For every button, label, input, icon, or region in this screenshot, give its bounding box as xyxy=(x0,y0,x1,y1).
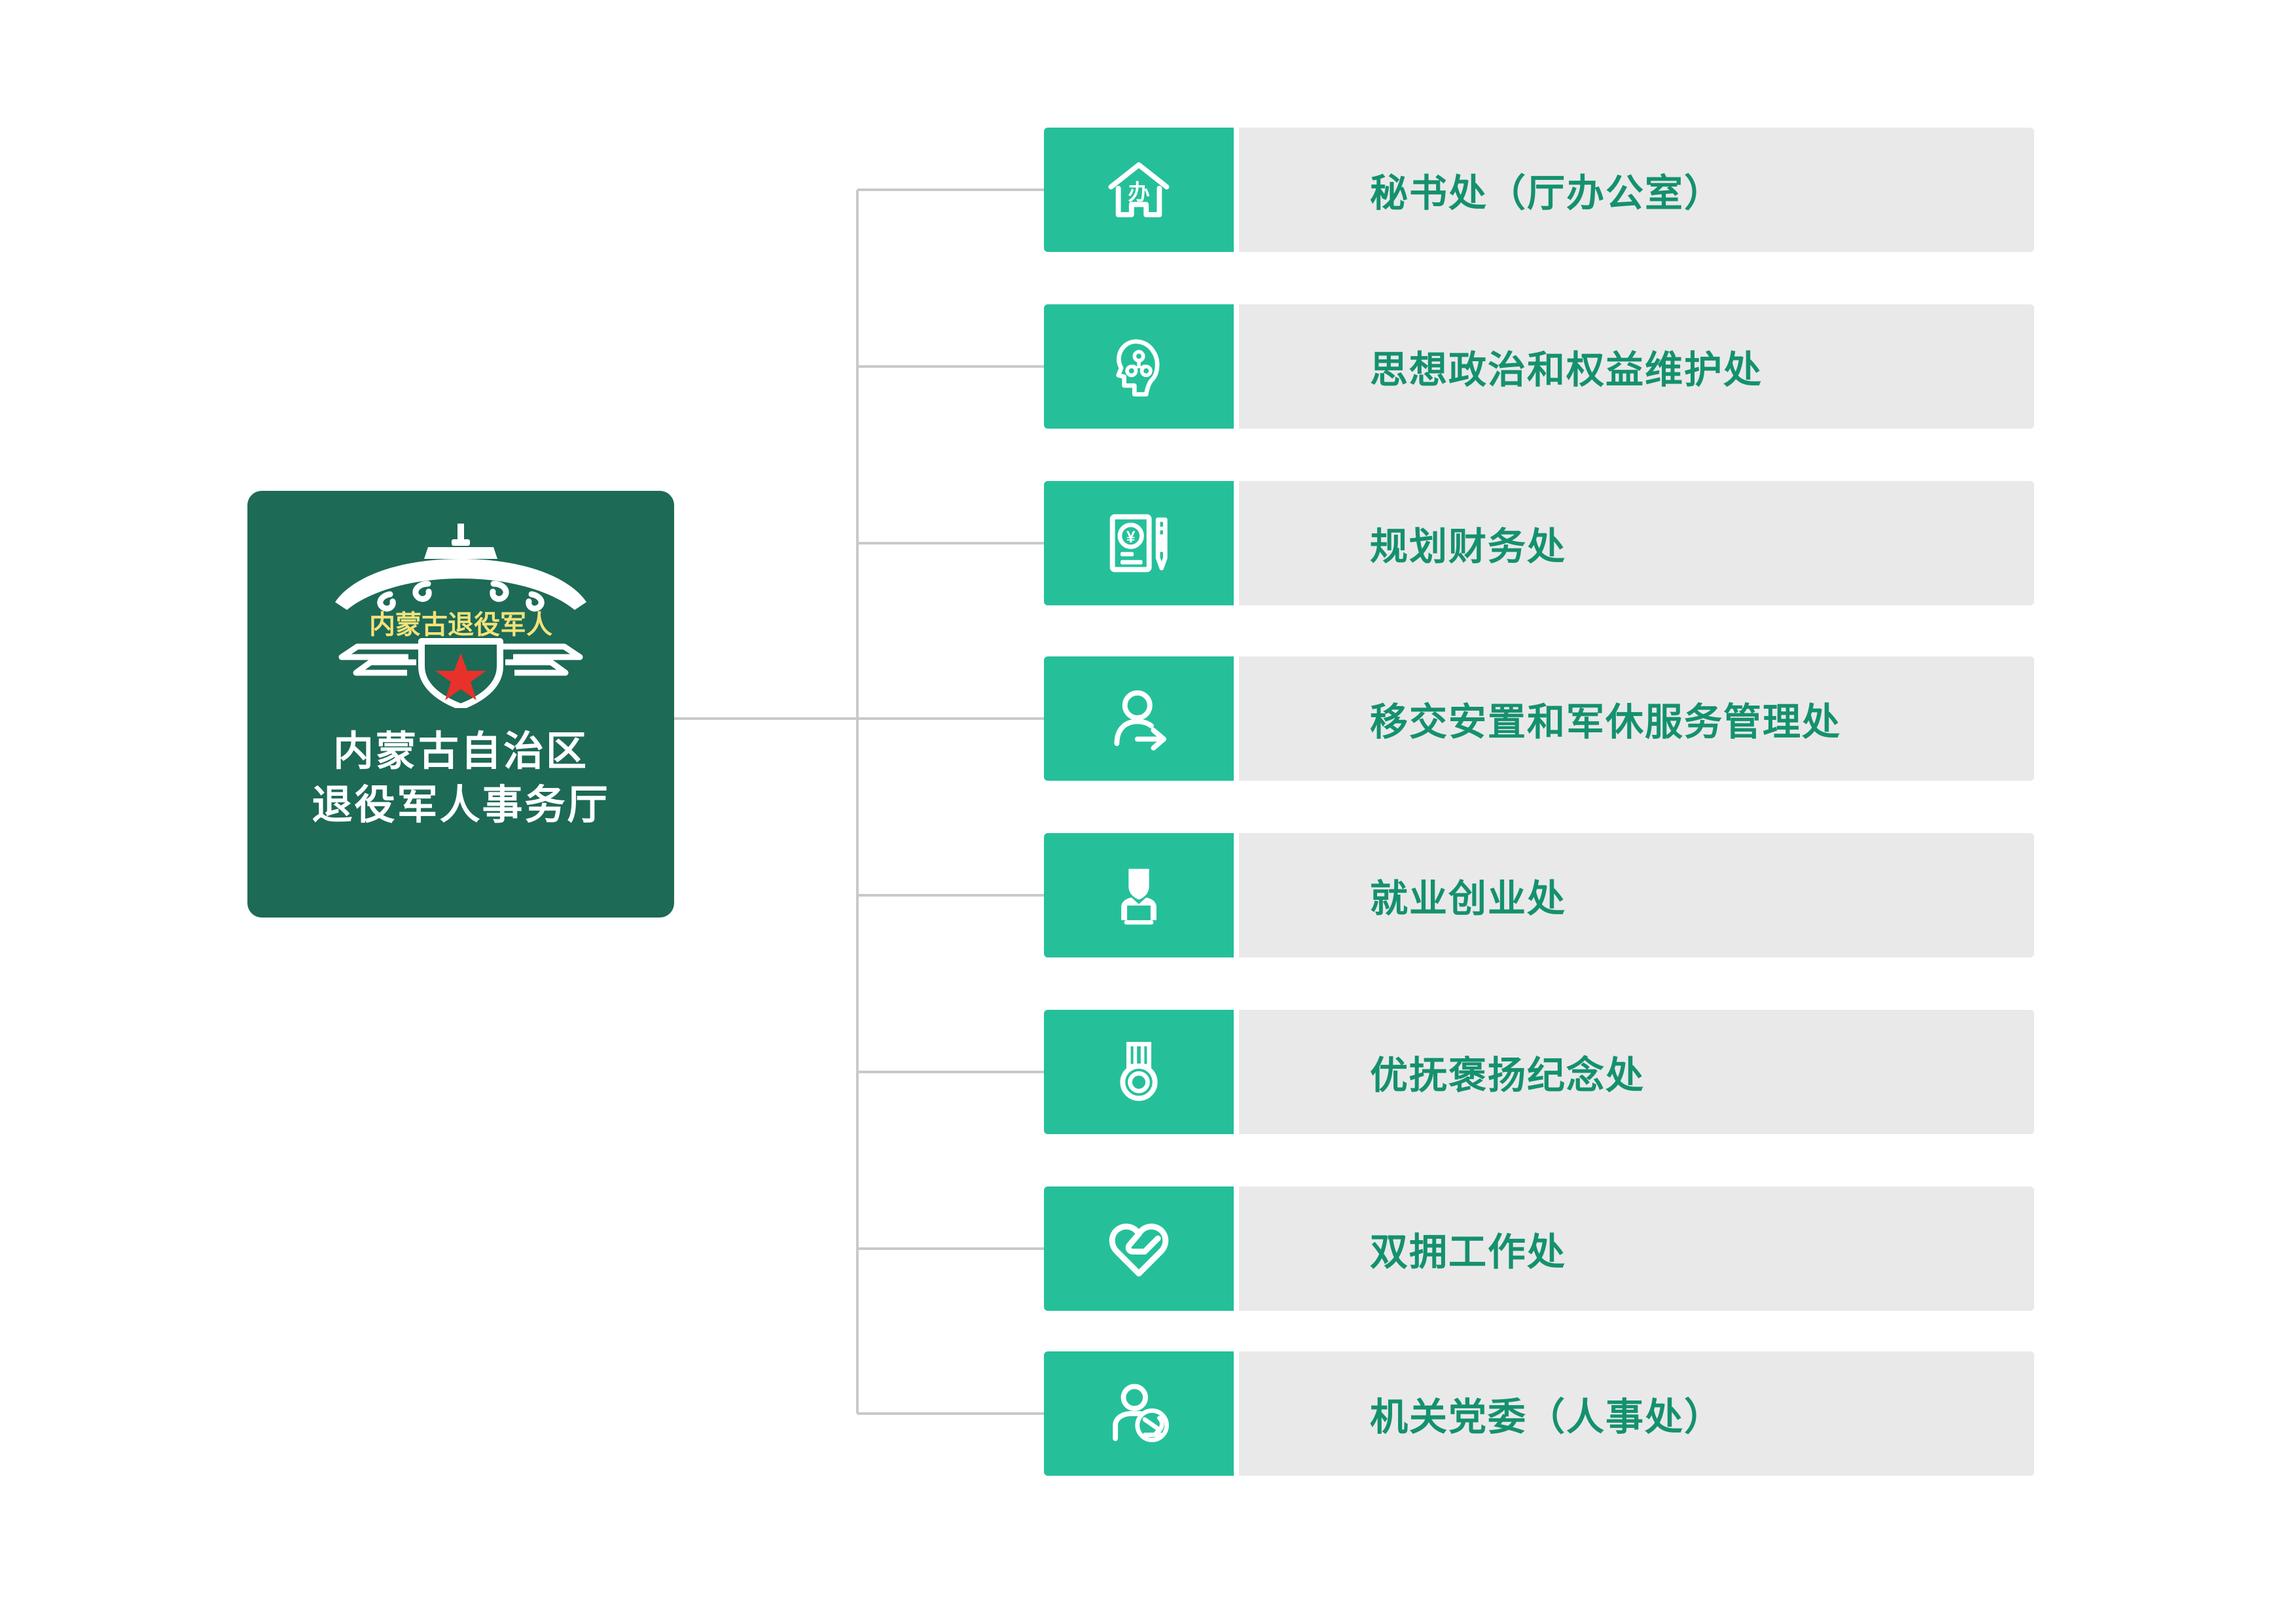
dept-label-text: 就业创业处 xyxy=(1370,868,1566,923)
person-party-emblem-icon xyxy=(1044,1351,1234,1476)
dept-row-employment-entrepreneurship[interactable]: 就业创业处 xyxy=(1044,833,2034,957)
dept-label-text: 双拥工作处 xyxy=(1370,1221,1566,1276)
dept-row-preferential-commendation[interactable]: 优抚褒扬纪念处 xyxy=(1044,1010,2034,1134)
dept-label-bar: 双拥工作处 xyxy=(1239,1186,2034,1311)
person-laptop-icon xyxy=(1044,833,1234,957)
dept-label-bar: 优抚褒扬纪念处 xyxy=(1239,1010,2034,1134)
dept-label-bar: 规划财务处 xyxy=(1239,481,2034,605)
interlocking-hearts-icon xyxy=(1044,1186,1234,1311)
dept-row-ideological-political-rights[interactable]: 思想政治和权益维护处 xyxy=(1044,304,2034,429)
svg-text:办: 办 xyxy=(1128,181,1150,205)
emblem-red-star xyxy=(435,653,486,700)
root-node-title: 内蒙古自治区 退役军人事务厅 xyxy=(312,725,609,833)
root-title-line-1: 内蒙古自治区 xyxy=(312,725,609,779)
dept-label-text: 优抚褒扬纪念处 xyxy=(1370,1044,1645,1099)
dept-label-text: 机关党委（人事处） xyxy=(1370,1386,1723,1441)
dept-row-party-committee-personnel[interactable]: 机关党委（人事处） xyxy=(1044,1351,2034,1476)
inner-mongolia-veterans-emblem-icon: 内蒙古退役军人 xyxy=(330,518,592,708)
dept-label-bar: 移交安置和军休服务管理处 xyxy=(1239,656,2034,781)
dept-row-double-support[interactable]: 双拥工作处 xyxy=(1044,1186,2034,1311)
head-thinking-nodes-icon xyxy=(1044,304,1234,429)
root-node-veterans-department[interactable]: 内蒙古退役军人 内蒙古自治区 退役军人事务厅 xyxy=(247,491,674,918)
dept-row-transfer-resettlement[interactable]: 移交安置和军休服务管理处 xyxy=(1044,656,2034,781)
dept-label-bar: 思想政治和权益维护处 xyxy=(1239,304,2034,429)
dept-label-text: 秘书处（厅办公室） xyxy=(1370,162,1723,217)
dept-label-bar: 就业创业处 xyxy=(1239,833,2034,957)
medal-icon xyxy=(1044,1010,1234,1134)
dept-row-secretariat[interactable]: 办 秘书处（厅办公室） xyxy=(1044,128,2034,252)
dept-label-text: 移交安置和军休服务管理处 xyxy=(1370,691,1841,746)
emblem-banner-text: 内蒙古退役军人 xyxy=(369,611,552,639)
dept-label-bar: 机关党委（人事处） xyxy=(1239,1351,2034,1476)
finance-document-pencil-icon: ¥ xyxy=(1044,481,1234,605)
dept-row-planning-finance[interactable]: ¥ 规划财务处 xyxy=(1044,481,2034,605)
person-transfer-arrow-icon xyxy=(1044,656,1234,781)
dept-label-bar: 秘书处（厅办公室） xyxy=(1239,128,2034,252)
house-office-icon: 办 xyxy=(1044,128,1234,252)
dept-label-text: 规划财务处 xyxy=(1370,516,1566,571)
svg-text:¥: ¥ xyxy=(1126,529,1136,546)
org-chart-canvas: 内蒙古退役军人 内蒙古自治区 退役军人事务厅 办 xyxy=(0,0,2296,1623)
root-title-line-2: 退役军人事务厅 xyxy=(312,779,609,832)
dept-label-text: 思想政治和权益维护处 xyxy=(1370,339,1763,394)
